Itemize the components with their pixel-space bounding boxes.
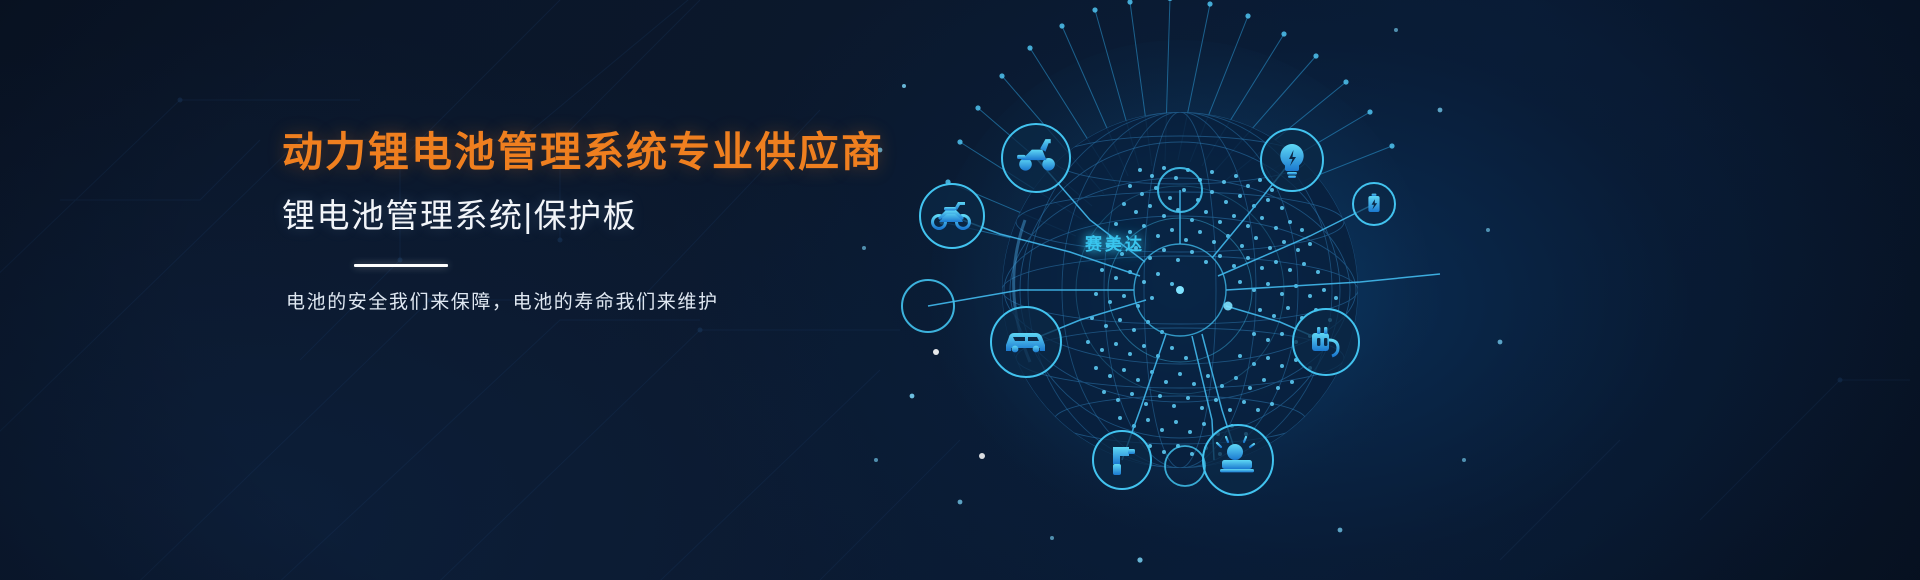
banner-copy: 动力锂电池管理系统专业供应商 锂电池管理系统|保护板 电池的安全我们来保障，电池… bbox=[282, 128, 1002, 317]
node-battery-pack bbox=[1353, 183, 1395, 225]
banner-headline: 动力锂电池管理系统专业供应商 bbox=[282, 128, 1002, 176]
headline-divider bbox=[354, 264, 448, 267]
node-lightbulb bbox=[1261, 129, 1323, 191]
banner-tagline: 电池的安全我们来保障，电池的寿命我们来维护 bbox=[286, 289, 1002, 318]
node-power-plug bbox=[1293, 309, 1359, 375]
node-car bbox=[991, 307, 1061, 377]
node-power-tool bbox=[1093, 431, 1151, 489]
node-scooter bbox=[1002, 124, 1070, 192]
hero-banner: 赛美达 动力锂电池管理系统专业供应商 锂电池管理系统|保护板 电池的安全我们来保… bbox=[0, 0, 1920, 580]
node-desk-lamp bbox=[1203, 425, 1273, 495]
banner-subheadline: 锂电池管理系统|保护板 bbox=[282, 196, 1002, 236]
